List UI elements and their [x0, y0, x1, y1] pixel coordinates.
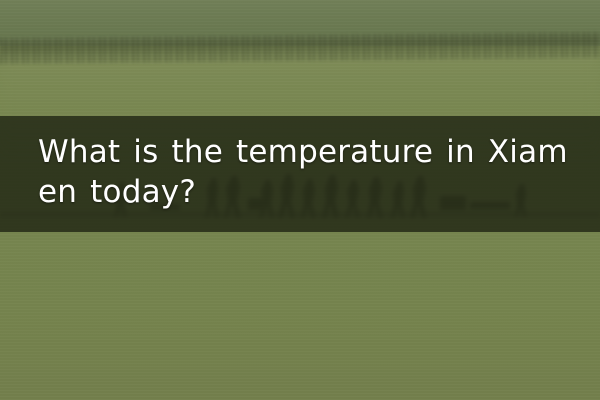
- video-frame: What is the temperature in Xiam en today…: [0, 0, 600, 400]
- caption-text: What is the temperature in Xiam en today…: [38, 132, 582, 212]
- caption-banner: What is the temperature in Xiam en today…: [0, 116, 600, 232]
